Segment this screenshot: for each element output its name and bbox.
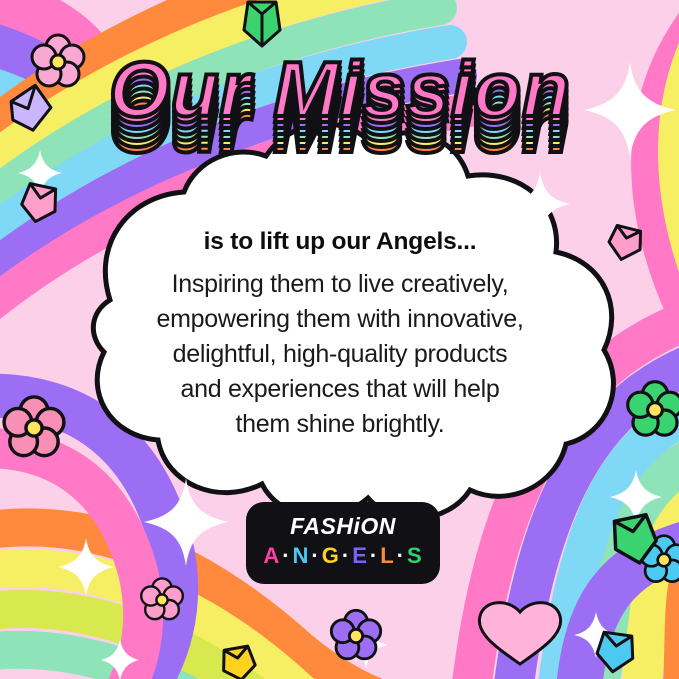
logo-letter-separator: · [280,543,292,569]
mission-line: and experiences that will help [90,372,590,407]
mission-line: Inspiring them to live creatively, [90,267,590,302]
mission-heading: is to lift up our Angels... [90,228,590,256]
logo-letter: L [380,543,394,569]
logo-letter: A [263,543,280,569]
logo-letter: E [352,543,368,569]
logo-letter-separator: · [368,543,380,569]
logo-letter-separator: · [395,543,407,569]
brand-logo: FASHiON A·N·G·E·L·S [248,504,438,582]
logo-letter: G [322,543,340,569]
logo-letter: S [407,543,423,569]
logo-letter-separator: · [340,543,352,569]
logo-angels-text: A·N·G·E·L·S [248,543,438,569]
logo-letter-separator: · [309,543,321,569]
poster-canvas: Our Mission Our Mission is to lift up ou… [0,0,679,679]
mission-line: empowering them with innovative, [90,302,590,337]
logo-fashion-text: FASHiON [248,513,438,540]
logo-letter: N [293,543,310,569]
mission-line: delightful, high-quality products [90,337,590,372]
mission-text-block: is to lift up our Angels... Inspiring th… [90,228,590,442]
mission-line: them shine brightly. [90,407,590,442]
